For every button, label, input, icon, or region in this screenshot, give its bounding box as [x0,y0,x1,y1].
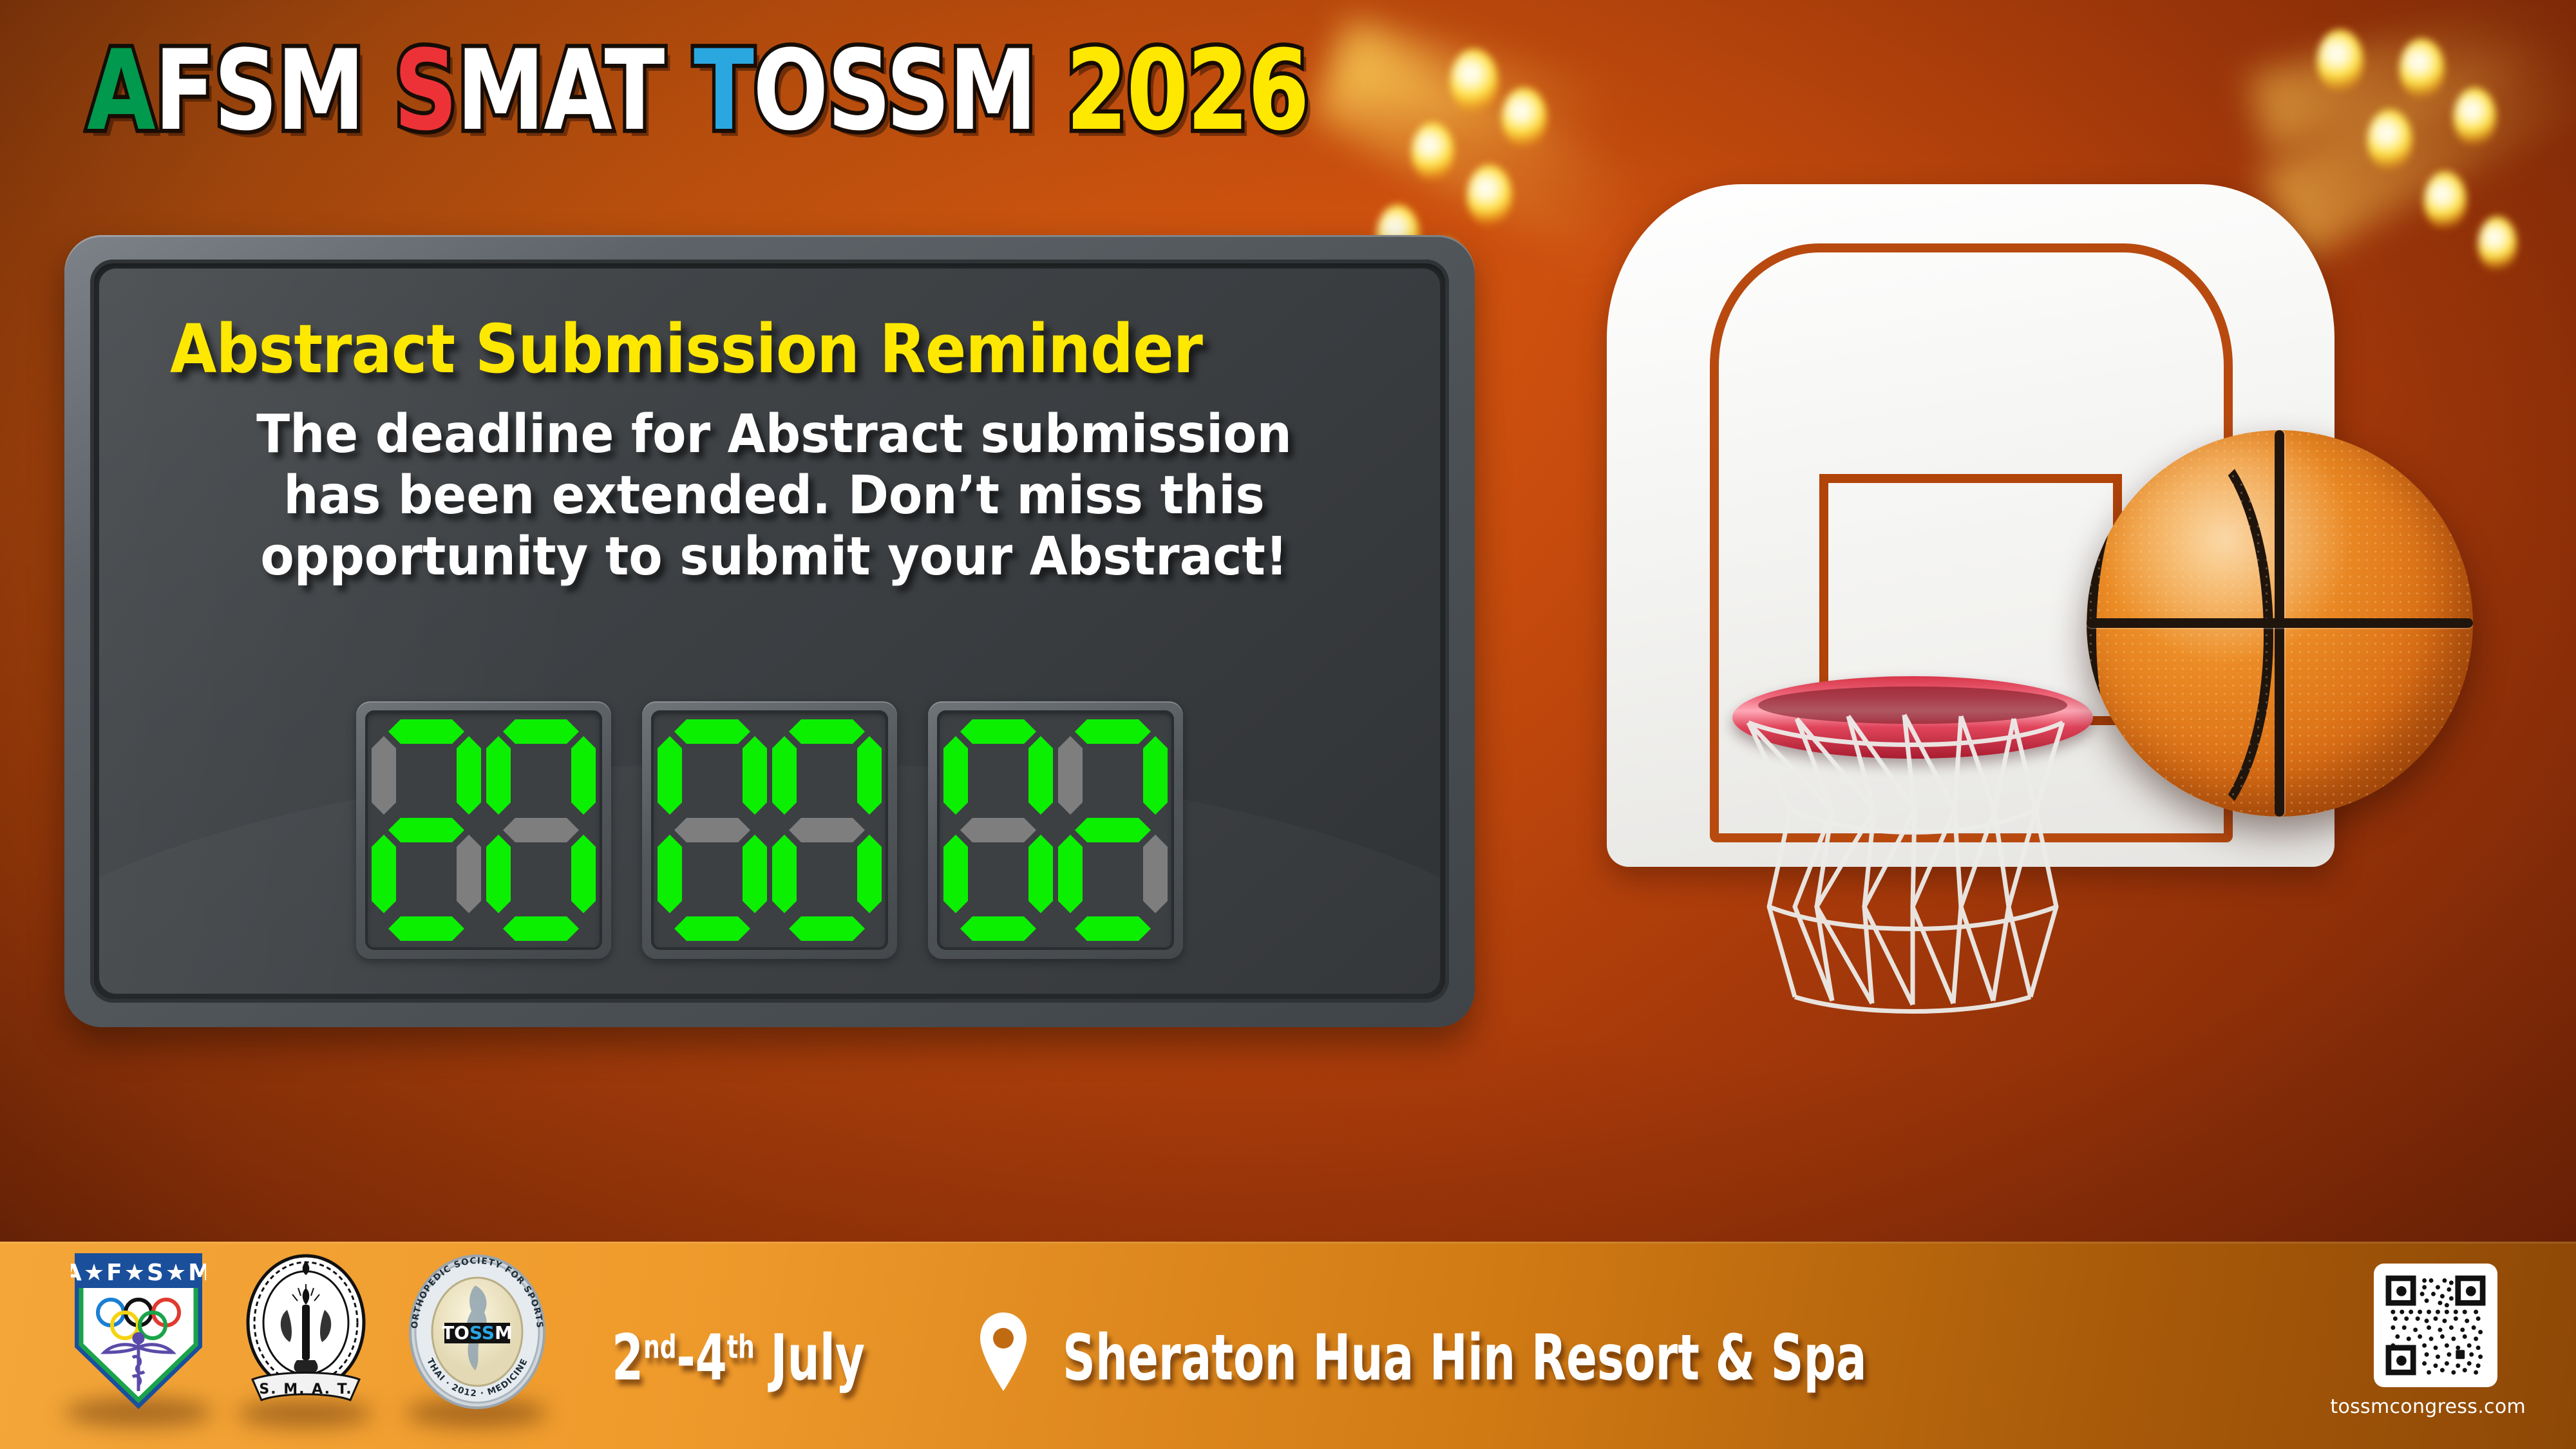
title-part: T [694,26,753,155]
seven-segment-digit [1056,717,1170,943]
lamp-icon [1502,88,1547,148]
title-part: OSSM [753,26,1066,155]
lamp-icon [2424,171,2467,231]
event-venue: Sheraton Hua Hin Resort & Spa [1063,1321,1867,1395]
tossm-logo: TOSSM ORTHOPEDIC SOCIETY FOR SPORTS THAI… [404,1251,550,1412]
seven-segment-digit [770,717,884,943]
seven-segment-digit [484,717,598,943]
lamp-icon [1450,49,1498,113]
lamp-icon [1412,122,1454,182]
promo-banner: AFSM SMAT TOSSM 2026 [0,0,2576,1449]
svg-text:A★F★S★M: A★F★S★M [71,1260,206,1286]
hoop-net [1736,714,2090,1016]
svg-text:S. M. A. T.: S. M. A. T. [259,1381,352,1397]
scoreboard-body-text: The deadline for Abstract submission has… [202,404,1347,587]
lamp-icon [2400,39,2445,99]
lamp-icon [1467,165,1512,227]
event-date: 2nd-4th July [612,1321,865,1395]
digit-group-3 [928,701,1183,959]
scoreboard-heading: Abstract Submission Reminder [170,310,1278,388]
svg-text:TOSSM: TOSSM [442,1322,513,1343]
scoreboard-panel: Abstract Submission Reminder The deadlin… [64,235,1475,1027]
title-part: MAT [457,26,694,155]
lamp-icon [2317,30,2363,93]
lamp-icon [2454,88,2496,147]
website-url: tossmcongress.com [2330,1396,2526,1418]
countdown-display [99,701,1440,959]
basketball [2087,430,2473,817]
title-part: FSM [155,26,394,155]
lamp-icon [2478,216,2517,272]
seven-segment-digit [941,717,1056,943]
digit-group-1 [356,701,611,959]
footer-bar: A★F★S★M [0,1242,2576,1449]
location-pin-icon [974,1310,1033,1394]
seven-segment-digit [369,717,484,943]
basketball-hoop [1542,161,2386,869]
title-part: 2026 [1066,26,1309,155]
seven-segment-digit [655,717,770,943]
title-part: A [87,26,155,155]
title-part: S [393,26,457,155]
qr-code[interactable] [2374,1264,2497,1387]
afsm-logo: A★F★S★M [71,1251,206,1412]
digit-group-2 [642,701,897,959]
page-title: AFSM SMAT TOSSM 2026 [87,35,1309,146]
smat-logo: S. M. A. T. [237,1251,375,1412]
